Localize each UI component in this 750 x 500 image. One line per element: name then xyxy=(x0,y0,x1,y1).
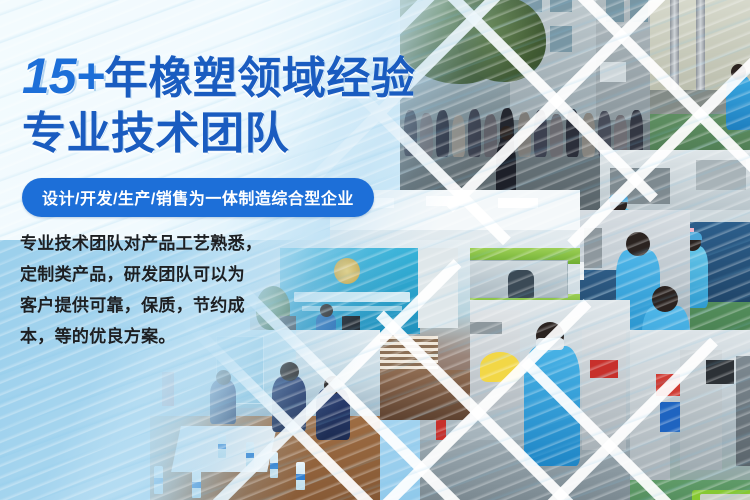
years-number: 15 xyxy=(22,48,76,104)
headline-line-1-text: 年橡塑领域经验 xyxy=(104,54,416,103)
description-line: 专业技术团队对产品工艺熟悉， xyxy=(20,228,288,259)
headline-line-2: 专业技术团队 xyxy=(22,108,289,160)
description-line: 客户提供可靠，保质，节约成 xyxy=(20,290,288,321)
headline-line-1: 15+年橡塑领域经验 xyxy=(22,50,415,105)
business-scope-pill: 设计/开发/生产/销售为一体制造综合型企业 xyxy=(22,178,374,217)
description-line: 本，等的优良方案。 xyxy=(20,321,288,352)
description-line: 定制类产品，研发团队可以为 xyxy=(20,259,288,290)
plus-symbol: + xyxy=(76,48,104,104)
description-paragraph: 专业技术团队对产品工艺熟悉， 定制类产品，研发团队可以为 客户提供可靠，保质，节… xyxy=(20,228,288,352)
banner-text-layer: 15+年橡塑领域经验 专业技术团队 设计/开发/生产/销售为一体制造综合型企业 … xyxy=(0,0,750,500)
company-strength-banner: 15+年橡塑领域经验 专业技术团队 设计/开发/生产/销售为一体制造综合型企业 … xyxy=(0,0,750,500)
